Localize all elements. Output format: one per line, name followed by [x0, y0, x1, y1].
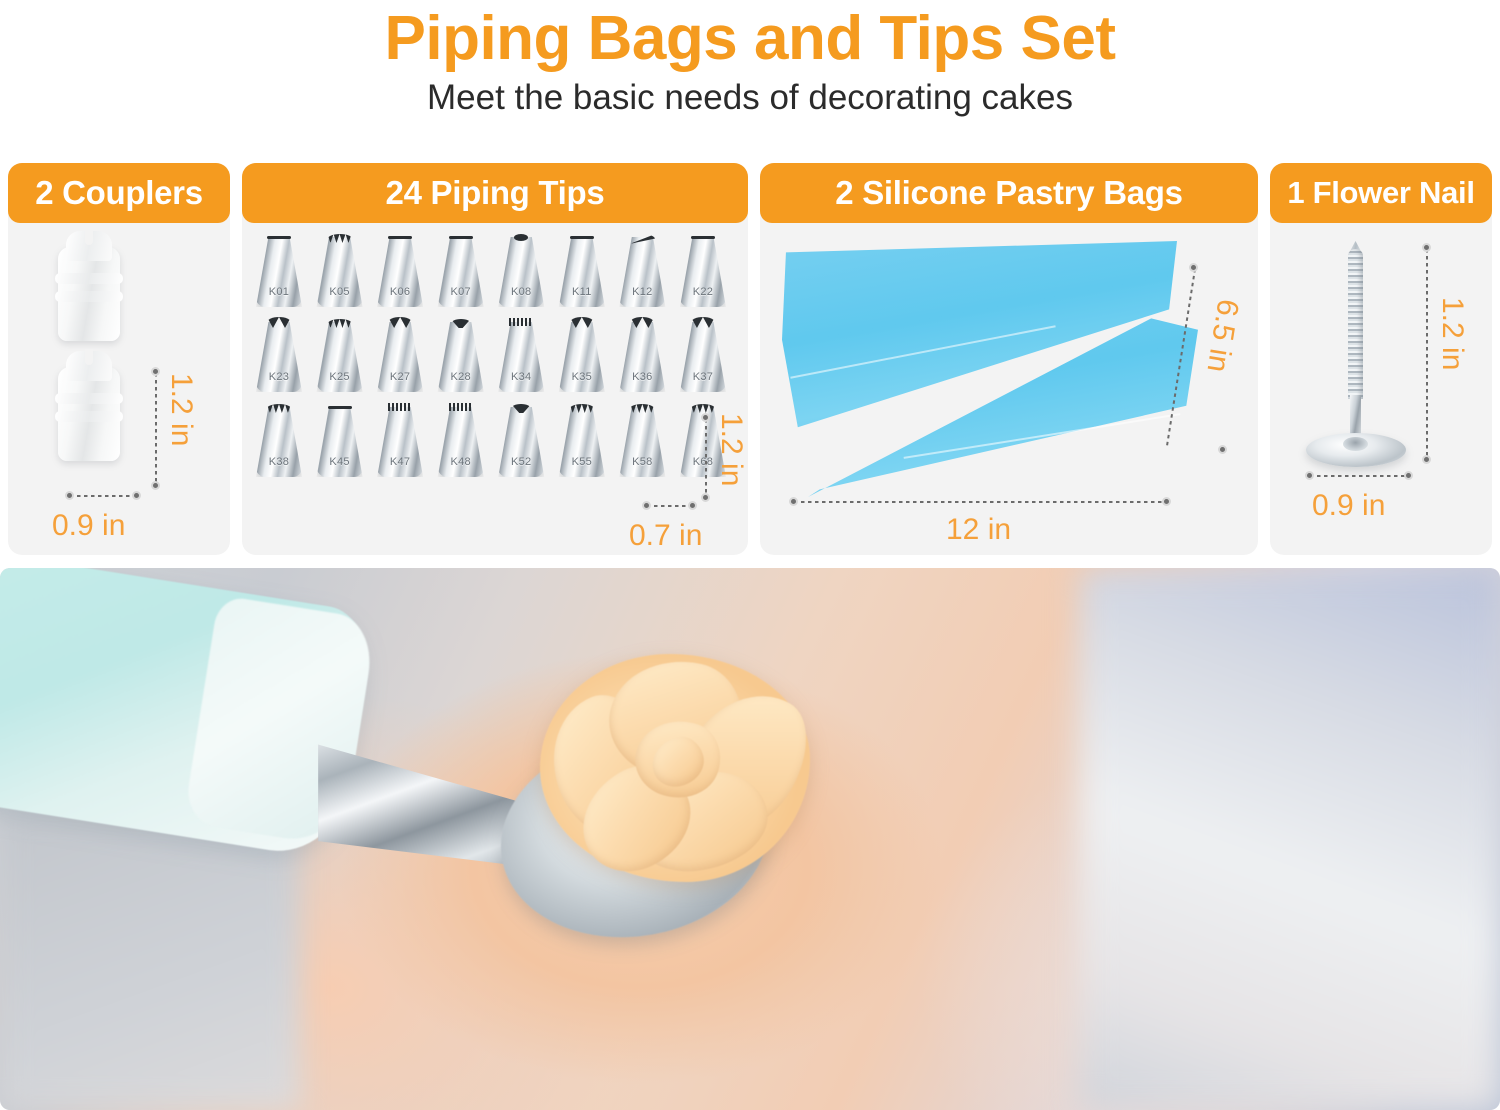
- piping-tip-label: K38: [256, 456, 302, 468]
- card-couplers-header: 2 Couplers: [8, 163, 230, 223]
- dim-endpoint-dot: [1218, 445, 1227, 454]
- piping-tip-label: K25: [317, 371, 363, 383]
- card-couplers-body: 1.2 in 0.9 in: [8, 223, 230, 555]
- dim-endpoint-dot: [642, 501, 651, 510]
- dim-endpoint-dot: [1162, 497, 1171, 506]
- card-flower-nail: 1 Flower Nail 1.2 in 0.9 in: [1270, 163, 1492, 555]
- pastry-bag-icon: [782, 235, 1182, 503]
- dim-label-width-nail: 0.9 in: [1312, 489, 1385, 523]
- piping-tip-label: K22: [680, 286, 726, 298]
- page-subtitle: Meet the basic needs of decorating cakes: [0, 79, 1500, 118]
- card-piping-tips-body: K01 K05 K06 K07 K08 K11 K12 K22 K23 K25 …: [242, 223, 748, 555]
- dim-label-width-couplers: 0.9 in: [52, 509, 125, 543]
- piping-tip-icon: K22: [680, 229, 726, 307]
- piping-tip-label: K23: [256, 371, 302, 383]
- dim-label-height-bags: 6.5 in: [1199, 297, 1244, 375]
- piping-tip-label: K28: [438, 371, 484, 383]
- piping-tip-label: K37: [680, 371, 726, 383]
- piping-tip-icon: K23: [256, 314, 302, 392]
- piping-tip-label: K47: [377, 456, 423, 468]
- dim-endpoint-dot: [789, 497, 798, 506]
- dim-endpoint-dot: [65, 491, 74, 500]
- coupler-icon: [52, 229, 126, 341]
- piping-tip-icon: K47: [377, 399, 423, 477]
- dim-endpoint-dot: [688, 501, 697, 510]
- dim-endpoint-dot: [132, 491, 141, 500]
- piping-tip-icon: K07: [438, 229, 484, 307]
- piping-tip-label: K05: [317, 286, 363, 298]
- piping-tip-label: K45: [317, 456, 363, 468]
- piping-tip-label: K48: [438, 456, 484, 468]
- piping-tip-label: K36: [619, 371, 665, 383]
- piping-tip-icon: K28: [438, 314, 484, 392]
- piping-tip-icon: K55: [559, 399, 605, 477]
- piping-tip-label: K35: [559, 371, 605, 383]
- piping-tip-icon: K48: [438, 399, 484, 477]
- dim-endpoint-dot: [701, 493, 710, 502]
- card-pastry-bags-header: 2 Silicone Pastry Bags: [760, 163, 1258, 223]
- card-piping-tips: 24 Piping Tips K01 K05 K06 K07 K08 K11 K…: [242, 163, 748, 555]
- dim-endpoint-dot: [151, 367, 160, 376]
- piping-tip-icon: K25: [317, 314, 363, 392]
- piping-rose-demo-photo: [0, 568, 1500, 1110]
- piping-tip-label: K06: [377, 286, 423, 298]
- piping-tip-label: K55: [559, 456, 605, 468]
- piping-tip-icon: K12: [619, 229, 665, 307]
- piping-tip-icon: K36: [619, 314, 665, 392]
- piping-tip-label: K11: [559, 286, 605, 298]
- photo-background-blur-right: [1080, 568, 1500, 1110]
- piping-tip-label: K07: [438, 286, 484, 298]
- piping-tip-icon: K01: [256, 229, 302, 307]
- dim-line-horizontal: [70, 495, 136, 497]
- dim-endpoint-dot: [1422, 455, 1431, 464]
- piping-tip-icon: K35: [559, 314, 605, 392]
- piping-tip-label: K58: [619, 456, 665, 468]
- piping-tip-icon: K27: [377, 314, 423, 392]
- piping-tip-row: K01 K05 K06 K07 K08 K11 K12 K22: [256, 229, 726, 307]
- page-title: Piping Bags and Tips Set: [0, 6, 1500, 71]
- dim-label-height-couplers: 1.2 in: [164, 373, 198, 446]
- dim-endpoint-dot: [151, 481, 160, 490]
- card-flower-nail-body: 1.2 in 0.9 in: [1270, 223, 1492, 555]
- card-flower-nail-header: 1 Flower Nail: [1270, 163, 1492, 223]
- dim-line-horizontal: [1310, 475, 1408, 477]
- card-pastry-bags-body: 6.5 in 12 in: [760, 223, 1258, 555]
- piping-tip-label: K08: [498, 286, 544, 298]
- page-header: Piping Bags and Tips Set Meet the basic …: [0, 0, 1500, 118]
- flower-nail-icon: [1300, 237, 1410, 487]
- piping-tip-label: K52: [498, 456, 544, 468]
- piping-tip-icon: K37: [680, 314, 726, 392]
- dim-label-height-nail: 1.2 in: [1435, 297, 1469, 370]
- dim-line-vertical: [1426, 249, 1428, 459]
- piping-tip-icon: K05: [317, 229, 363, 307]
- piping-tip-label: K34: [498, 371, 544, 383]
- card-couplers: 2 Couplers 1.2 in 0.9 in: [8, 163, 230, 555]
- piping-tip-label: K12: [619, 286, 665, 298]
- piping-tip-icon: K11: [559, 229, 605, 307]
- dim-endpoint-dot: [1404, 471, 1413, 480]
- piping-tip-icon: K08: [498, 229, 544, 307]
- dim-endpoint-dot: [1422, 243, 1431, 252]
- dim-label-height-tips: 1.2 in: [714, 413, 748, 486]
- piping-tip-label: K27: [377, 371, 423, 383]
- piping-tip-icon: K45: [317, 399, 363, 477]
- dim-endpoint-dot: [1305, 471, 1314, 480]
- piping-tip-label: K01: [256, 286, 302, 298]
- piping-tip-row: K38 K45 K47 K48 K52 K55 K58 K68: [256, 399, 726, 477]
- product-feature-cards: 2 Couplers 1.2 in 0.9 in 24 Piping Tips: [8, 163, 1492, 555]
- piping-tip-icon: K52: [498, 399, 544, 477]
- dim-line-horizontal: [647, 505, 691, 507]
- piping-tips-grid: K01 K05 K06 K07 K08 K11 K12 K22 K23 K25 …: [256, 229, 726, 484]
- coupler-icon: [52, 349, 126, 461]
- piping-tip-icon: K06: [377, 229, 423, 307]
- card-piping-tips-header: 24 Piping Tips: [242, 163, 748, 223]
- piping-tip-icon: K38: [256, 399, 302, 477]
- photo-background-blur-left: [0, 808, 300, 1110]
- dim-label-width-bags: 12 in: [946, 513, 1011, 547]
- dim-endpoint-dot: [1189, 263, 1198, 272]
- dim-endpoint-dot: [701, 413, 710, 422]
- dim-line-vertical: [705, 419, 707, 497]
- piping-tip-icon: K58: [619, 399, 665, 477]
- dim-label-width-tips: 0.7 in: [629, 519, 702, 553]
- card-pastry-bags: 2 Silicone Pastry Bags 6.5 in 12 in: [760, 163, 1258, 555]
- dim-line-horizontal: [794, 501, 1166, 503]
- piping-tip-icon: K34: [498, 314, 544, 392]
- piping-tip-row: K23 K25 K27 K28 K34 K35 K36 K37: [256, 314, 726, 392]
- dim-line-vertical: [155, 373, 157, 485]
